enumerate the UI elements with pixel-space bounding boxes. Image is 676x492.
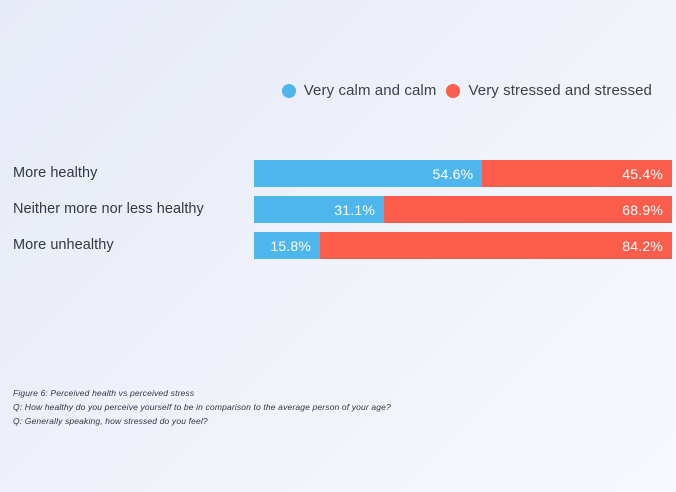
bar-segment-stressed[interactable]: 84.2% [320,232,672,259]
bar-value-calm: 54.6% [433,166,474,182]
stacked-bar-neither: 31.1% 68.9% [254,196,672,223]
legend-label-calm: Very calm and calm [304,82,437,99]
bar-segment-stressed[interactable]: 68.9% [384,196,672,223]
legend-dot-stressed-icon [446,84,460,98]
bar-segment-calm[interactable]: 31.1% [254,196,384,223]
legend-label-stressed: Very stressed and stressed [468,82,652,99]
caption-line-title: Figure 6: Perceived health vs perceived … [13,386,391,400]
figure-caption: Figure 6: Perceived health vs perceived … [13,386,391,428]
bar-value-stressed: 45.4% [622,166,663,182]
stacked-bar-more-unhealthy: 15.8% 84.2% [254,232,672,259]
bar-segment-stressed[interactable]: 45.4% [482,160,672,187]
chart-row-more-unhealthy: More unhealthy 15.8% 84.2% [0,232,676,268]
bar-segment-calm[interactable]: 54.6% [254,160,482,187]
legend-item-stressed[interactable]: Very stressed and stressed [446,82,652,99]
bar-value-calm: 31.1% [334,202,375,218]
chart-plot-area: More healthy 54.6% 45.4% Neither more no… [0,160,676,268]
chart-figure: Very calm and calm Very stressed and str… [0,0,676,492]
category-label-more-healthy: More healthy [13,160,97,187]
legend-dot-calm-icon [282,84,296,98]
caption-line-question-2: Q: Generally speaking, how stressed do y… [13,414,391,428]
category-label-more-unhealthy: More unhealthy [13,232,114,259]
bar-value-stressed: 84.2% [622,238,663,254]
chart-legend: Very calm and calm Very stressed and str… [0,82,652,99]
bar-value-stressed: 68.9% [622,202,663,218]
chart-row-neither: Neither more nor less healthy 31.1% 68.9… [0,196,676,232]
bar-value-calm: 15.8% [270,238,311,254]
legend-item-calm[interactable]: Very calm and calm [282,82,437,99]
chart-row-more-healthy: More healthy 54.6% 45.4% [0,160,676,196]
category-label-neither: Neither more nor less healthy [13,196,204,223]
caption-line-question-1: Q: How healthy do you perceive yourself … [13,400,391,414]
stacked-bar-more-healthy: 54.6% 45.4% [254,160,672,187]
bar-segment-calm[interactable]: 15.8% [254,232,320,259]
